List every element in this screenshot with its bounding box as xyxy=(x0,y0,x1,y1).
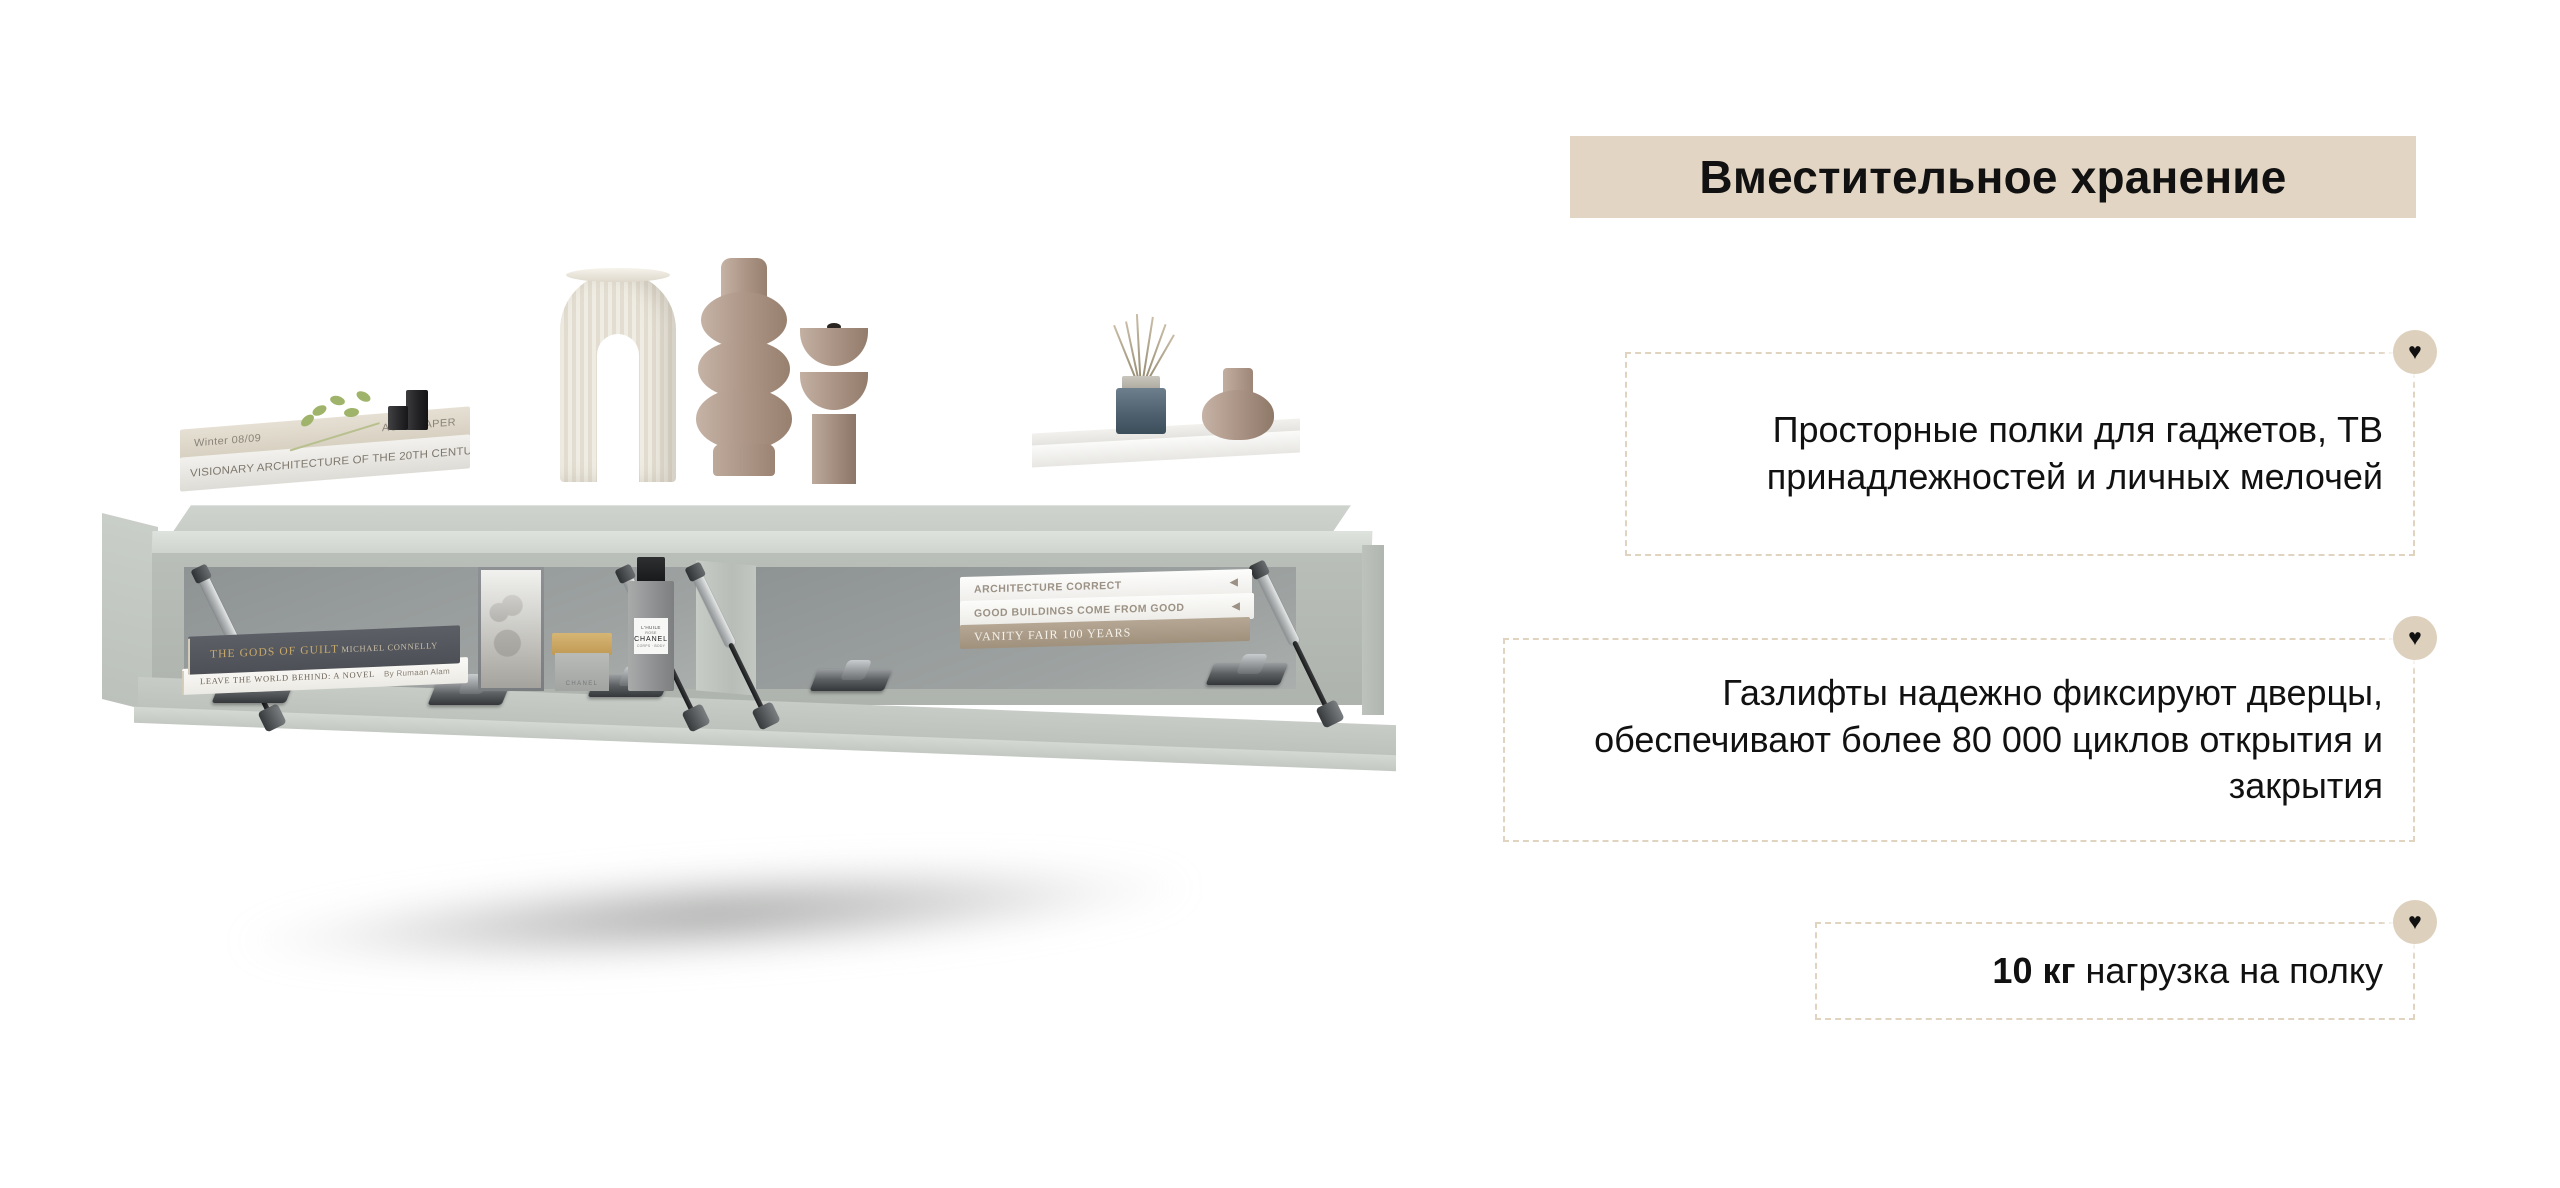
bowl-upper xyxy=(800,328,868,366)
book-gods-author: MICHAEL CONNELLY xyxy=(341,640,438,654)
book-page-edge xyxy=(188,639,190,675)
door-hinge xyxy=(810,669,893,691)
wavy-vase-bulge xyxy=(696,388,792,450)
left-compartment-items: LEAVE THE WORLD BEHIND: A NOVEL By Rumaa… xyxy=(160,505,760,725)
book-leave-author: By Rumaan Alam xyxy=(384,666,450,678)
wavy-vase-foot xyxy=(713,444,775,476)
bowl-pedestal xyxy=(812,414,856,484)
heart-icon: ♥ xyxy=(2393,330,2437,374)
heart-glyph: ♥ xyxy=(2408,340,2422,363)
feature-card-gaslift-text: Газлифты надежно фиксируют дверцы, обесп… xyxy=(1505,670,2413,810)
arch-vase-rim xyxy=(566,268,670,282)
black-candle-tall xyxy=(406,390,428,430)
heart-glyph: ♥ xyxy=(2408,910,2422,933)
slide-canvas: Winter 08/09 ACNE PAPER VISIONARY ARCHIT… xyxy=(0,0,2560,1188)
sprig-leaf xyxy=(344,407,360,418)
chanel-box: CHANEL xyxy=(552,633,612,691)
heart-glyph: ♥ xyxy=(2408,626,2422,649)
diffuser-jar xyxy=(1116,388,1166,434)
book-gods-title: THE GODS OF GUILT xyxy=(210,643,339,660)
chanel-label-line3: CHANEL xyxy=(634,636,668,643)
feature-card-load-rest: нагрузка на полку xyxy=(2075,950,2383,991)
book-acne-paper-issue: Winter 08/09 xyxy=(194,432,261,449)
book-page-edge xyxy=(960,578,962,603)
feature-card-load: 10 кг нагрузка на полку xyxy=(1815,922,2415,1020)
feature-card-gaslift: Газлифты надежно фиксируют дверцы, обесп… xyxy=(1503,638,2415,842)
chanel-bottle: L'HUILE ROSE CHANEL CORPS · BODY xyxy=(628,557,674,691)
book-page-edge xyxy=(960,626,962,649)
arch-vase-opening xyxy=(597,334,639,484)
heart-icon: ♥ xyxy=(2393,900,2437,944)
chanel-box-body: CHANEL xyxy=(555,653,609,691)
book-page-edge xyxy=(960,602,962,627)
book-page-edge xyxy=(182,671,184,695)
round-vase-body xyxy=(1202,390,1274,440)
chanel-label-line2: ROSE xyxy=(645,631,656,635)
book-architecture-correct-title: ARCHITECTURE CORRECT xyxy=(974,580,1122,596)
photo-frame xyxy=(478,567,544,691)
feature-card-load-value: 10 кг xyxy=(1992,950,2075,991)
book-vanity-fair-title: VANITY FAIR 100 YEARS xyxy=(974,625,1131,644)
chanel-bottle-label: L'HUILE ROSE CHANEL CORPS · BODY xyxy=(634,618,668,654)
product-image: Winter 08/09 ACNE PAPER VISIONARY ARCHIT… xyxy=(0,0,1500,1188)
triangle-icon: ◀ xyxy=(1230,577,1238,588)
wavy-vase xyxy=(696,258,792,482)
feature-panel: Вместительное хранение Просторные полки … xyxy=(1500,0,2560,1188)
right-compartment-items: ARCHITECTURE CORRECT ◀ GOOD BUILDINGS CO… xyxy=(960,505,1420,725)
round-vase xyxy=(1202,368,1274,440)
arch-vase xyxy=(560,272,676,482)
feature-card-storage: Просторные полки для гаджетов, ТВ принад… xyxy=(1625,352,2415,556)
chanel-box-label: CHANEL xyxy=(566,681,599,687)
triangle-icon: ◀ xyxy=(1232,601,1240,612)
chanel-label-line4: CORPS · BODY xyxy=(637,644,665,648)
top-decor-group: Winter 08/09 ACNE PAPER VISIONARY ARCHIT… xyxy=(160,240,1420,530)
book-good-buildings-title: GOOD BUILDINGS COME FROM GOOD xyxy=(974,602,1185,620)
bowl-candleholder xyxy=(800,328,868,484)
black-candle-short xyxy=(388,406,408,430)
chanel-bottle-body: L'HUILE ROSE CHANEL CORPS · BODY xyxy=(628,581,674,691)
feature-card-load-text: 10 кг нагрузка на полку xyxy=(1966,948,2413,995)
green-sprig xyxy=(286,388,382,428)
page-title-text: Вместительное хранение xyxy=(1699,154,2286,200)
chanel-bottle-cap xyxy=(637,557,665,583)
sprig-leaf xyxy=(355,389,372,404)
sprig-leaf xyxy=(329,394,346,406)
heart-icon: ♥ xyxy=(2393,616,2437,660)
chanel-box-lid xyxy=(552,633,612,655)
page-title: Вместительное хранение xyxy=(1570,136,2416,218)
photo-frame-image xyxy=(481,570,541,688)
bowl-lower xyxy=(800,372,868,410)
feature-card-storage-text: Просторные полки для гаджетов, ТВ принад… xyxy=(1627,407,2413,501)
chanel-label-line1: L'HUILE xyxy=(641,625,661,630)
reed-diffuser xyxy=(1106,326,1176,436)
black-candle-holder xyxy=(388,390,428,430)
